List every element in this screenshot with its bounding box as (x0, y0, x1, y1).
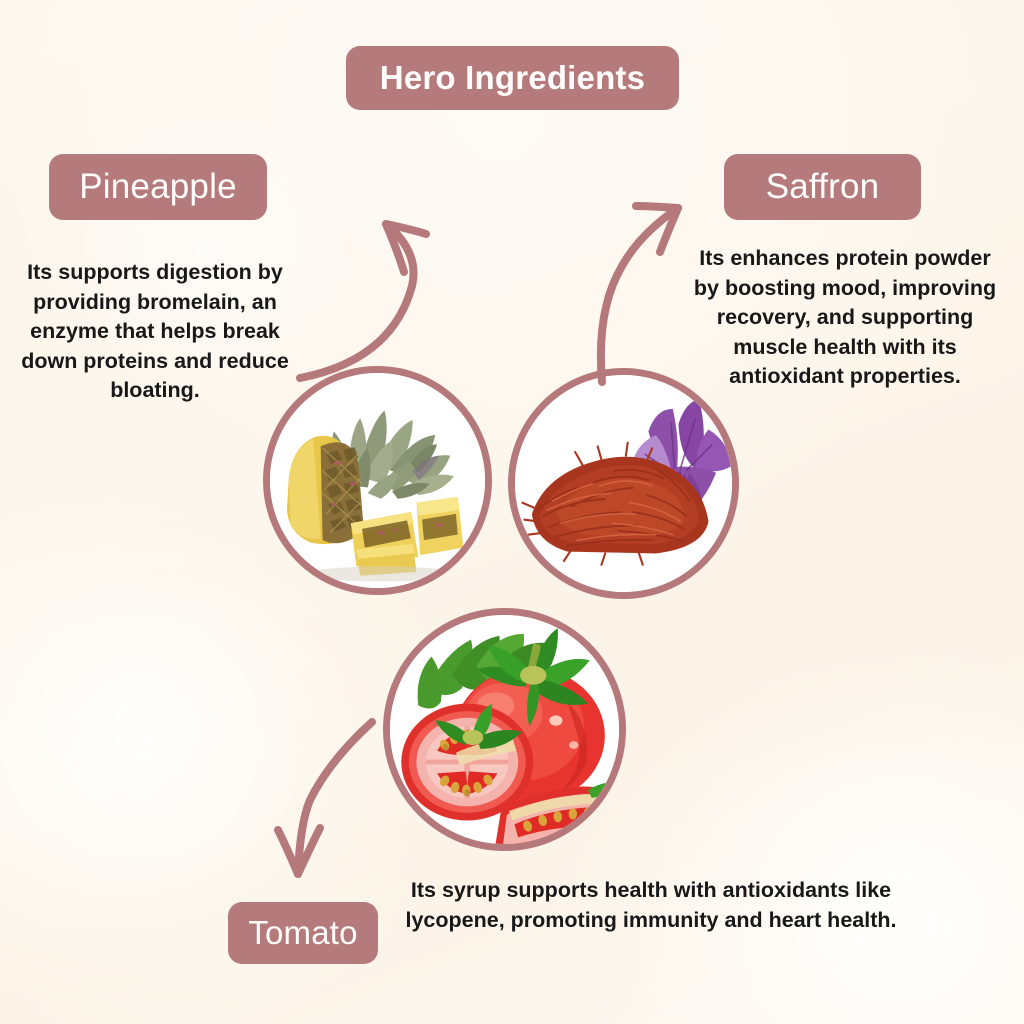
ingredient-label-saffron: Saffron (724, 154, 921, 220)
pineapple-photo (270, 373, 485, 588)
ingredient-label-text: Pineapple (79, 167, 237, 207)
arrow-to-tomato (278, 722, 372, 874)
background-texture-blob (0, 560, 320, 900)
arrow-to-saffron (601, 206, 678, 382)
page-title: Hero Ingredients (380, 59, 645, 97)
ingredient-image-pineapple (263, 366, 492, 595)
ingredient-label-pineapple: Pineapple (49, 154, 267, 220)
ingredient-description-saffron: Its enhances protein powder by boosting … (692, 244, 998, 392)
ingredient-image-saffron (508, 368, 739, 599)
ingredient-label-tomato: Tomato (228, 902, 378, 964)
page-title-badge: Hero Ingredients (346, 46, 679, 110)
ingredient-image-tomato (383, 608, 626, 851)
ingredient-description-tomato: Its syrup supports health with antioxida… (396, 876, 906, 935)
ingredient-label-text: Tomato (248, 914, 357, 952)
saffron-photo (515, 375, 732, 592)
ingredient-label-text: Saffron (766, 167, 880, 207)
tomato-photo (390, 615, 619, 844)
ingredient-description-pineapple: Its supports digestion by providing brom… (8, 258, 302, 406)
arrow-to-pineapple (300, 224, 426, 378)
hero-ingredients-infographic: Hero Ingredients Pineapple Saffron Tomat… (0, 0, 1024, 1024)
